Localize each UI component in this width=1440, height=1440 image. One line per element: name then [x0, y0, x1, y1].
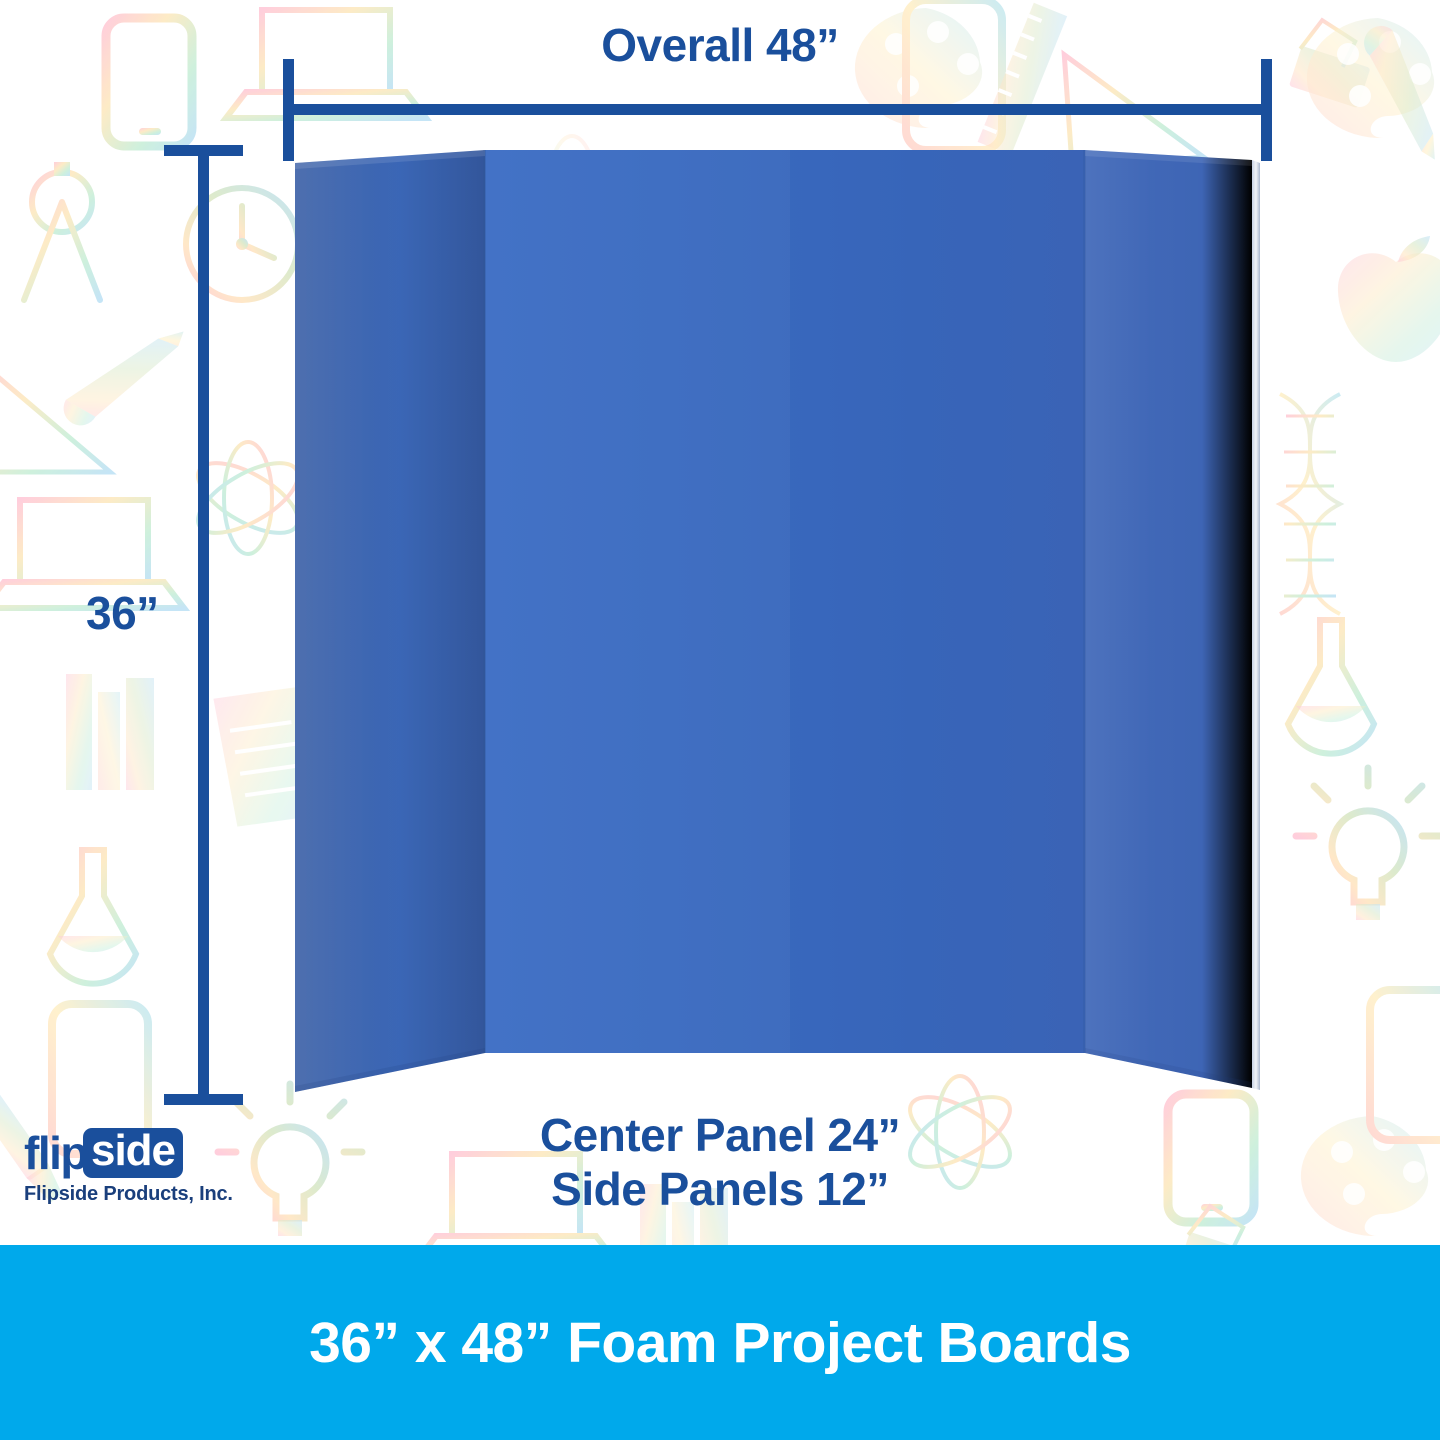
board-fold-left [483, 150, 486, 1053]
flipside-logo: flip side Flipside Products, Inc. [24, 1128, 233, 1206]
overall-width-cap-right [1261, 59, 1272, 161]
logo-word-flip: flip [24, 1130, 87, 1176]
board-edge-highlight [1252, 160, 1260, 1090]
board-height-label: 36” [86, 586, 159, 640]
board-panel-left [295, 150, 485, 1092]
logo-word-side: side [83, 1128, 183, 1178]
overall-width-dimension-line [283, 104, 1272, 115]
board-fold-right [1083, 150, 1086, 1053]
height-dimension-line [198, 145, 209, 1105]
overall-width-label: Overall 48” [0, 18, 1440, 72]
height-cap-top [164, 145, 243, 156]
height-cap-bottom [164, 1094, 243, 1105]
bottom-banner: 36” x 48” Foam Project Boards [0, 1245, 1440, 1440]
logo-wordmark: flip side [24, 1128, 233, 1178]
banner-title: 36” x 48” Foam Project Boards [309, 1310, 1131, 1376]
tri-fold-project-board [0, 0, 1440, 1440]
logo-tagline: Flipside Products, Inc. [24, 1183, 233, 1206]
overall-width-cap-left [283, 59, 294, 161]
board-panel-center [485, 150, 1085, 1053]
infographic-canvas: Overall 48” 36” Center Panel 24” Side Pa… [0, 0, 1440, 1440]
board-panel-right [1085, 150, 1252, 1088]
